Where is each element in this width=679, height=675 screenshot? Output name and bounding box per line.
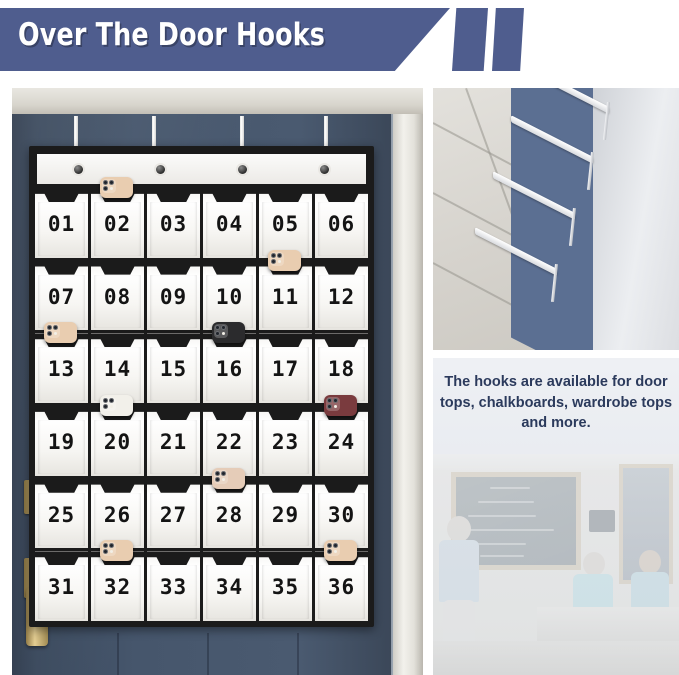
door-groove-2: [207, 633, 209, 675]
camera-flash-icon: [334, 405, 337, 408]
pocket-top-binding: [315, 188, 368, 202]
pocket-top-binding: [91, 479, 144, 493]
head: [583, 552, 605, 576]
pocket-top-binding: [91, 333, 144, 347]
wall-trim: [12, 88, 423, 116]
pocket-number: 05: [259, 212, 312, 236]
camera-lens-icon: [333, 543, 338, 548]
head: [639, 550, 661, 574]
pocket-slot[interactable]: 23: [259, 406, 315, 476]
camera-flash-icon: [222, 332, 225, 335]
pocket-number: 11: [259, 284, 312, 308]
camera-module: [46, 324, 60, 338]
camera-module: [326, 397, 340, 411]
camera-lens-icon: [103, 543, 108, 548]
scene-caption: The hooks are available for door tops, c…: [439, 372, 673, 434]
pocket-number: 08: [91, 284, 144, 308]
pocket-number: 30: [315, 502, 368, 526]
classroom-illustration: [433, 454, 679, 675]
pocket-top-binding: [203, 551, 256, 565]
pocket-number: 28: [203, 502, 256, 526]
pocket-top-binding: [259, 479, 312, 493]
camera-lens-icon: [271, 259, 276, 264]
pocket-slot[interactable]: 09: [147, 261, 203, 331]
pocket-top-binding: [147, 479, 200, 493]
product-image-page: Over The Door Hooks 01020304050607080910…: [0, 0, 679, 675]
camera-module: [214, 324, 228, 338]
pocket-top-binding: [147, 551, 200, 565]
pocket-row: 070809101112: [35, 261, 368, 334]
pocket-slot[interactable]: 07: [35, 261, 91, 331]
pocket-slot[interactable]: 32: [91, 551, 147, 621]
pocket-number: 35: [259, 575, 312, 599]
hook-detail-photo: [433, 88, 679, 350]
pocket-number: 29: [259, 502, 312, 526]
pocket-slot[interactable]: 36: [315, 551, 368, 621]
pocket-number: 32: [91, 575, 144, 599]
camera-lens-icon: [47, 331, 52, 336]
pocket-slot[interactable]: 10: [203, 261, 259, 331]
camera-lens-icon: [277, 253, 282, 258]
phone-in-pocket: [100, 395, 133, 416]
header-divider: [0, 77, 679, 79]
camera-lens-icon: [215, 331, 220, 336]
camera-module: [214, 470, 228, 484]
pocket-top-binding: [315, 261, 368, 275]
camera-module: [102, 542, 116, 556]
camera-lens-icon: [327, 549, 332, 554]
pocket-row: 010203040506: [35, 188, 368, 261]
pocket-slot[interactable]: 26: [91, 479, 147, 549]
hanger-strap: [324, 116, 328, 148]
phone-in-pocket: [100, 540, 133, 561]
camera-lens-icon: [103, 398, 108, 403]
camera-flash-icon: [334, 550, 337, 553]
camera-lens-icon: [103, 404, 108, 409]
pocket-number: 19: [35, 430, 88, 454]
camera-flash-icon: [110, 550, 113, 553]
pocket-number: 02: [91, 212, 144, 236]
camera-flash-icon: [110, 187, 113, 190]
pocket-slot[interactable]: 30: [315, 479, 368, 549]
numbered-pocket-chart: 0102030405060708091011121314151617181920…: [29, 146, 374, 627]
camera-lens-icon: [271, 253, 276, 258]
camera-flash-icon: [222, 478, 225, 481]
phone-in-pocket: [324, 395, 357, 416]
hanger-strap: [74, 116, 78, 148]
pocket-number: 21: [147, 430, 200, 454]
camera-lens-icon: [53, 325, 58, 330]
camera-lens-icon: [215, 325, 220, 330]
pocket-number: 22: [203, 430, 256, 454]
banner-stripe-2: [492, 8, 524, 71]
door-groove-3: [297, 633, 299, 675]
torso: [439, 540, 479, 602]
pocket-number: 16: [203, 357, 256, 381]
pocket-top-binding: [147, 188, 200, 202]
door-frame-right: [393, 114, 423, 675]
pocket-slot[interactable]: 08: [91, 261, 147, 331]
pocket-top-binding: [259, 406, 312, 420]
banner-stripe-1: [452, 8, 488, 71]
camera-lens-icon: [215, 471, 220, 476]
pocket-number: 17: [259, 357, 312, 381]
camera-lens-icon: [215, 477, 220, 482]
camera-lens-icon: [47, 325, 52, 330]
pocket-number: 34: [203, 575, 256, 599]
chalk-mark: [480, 555, 524, 557]
pocket-top-binding: [147, 406, 200, 420]
pocket-slot[interactable]: 21: [147, 406, 203, 476]
pocket-slot[interactable]: 31: [35, 551, 91, 621]
pocket-slot[interactable]: 25: [35, 479, 91, 549]
chalk-mark: [490, 487, 530, 489]
pocket-top-binding: [35, 188, 88, 202]
pocket-number: 25: [35, 502, 88, 526]
pocket-number: 23: [259, 430, 312, 454]
camera-lens-icon: [109, 180, 114, 185]
pocket-number: 09: [147, 284, 200, 308]
pocket-number: 12: [315, 284, 368, 308]
header-banner: Over The Door Hooks: [0, 0, 679, 86]
pocket-slot[interactable]: 05: [259, 188, 315, 258]
camera-lens-icon: [103, 186, 108, 191]
chart-top-binding: [35, 152, 368, 186]
pocket-top-binding: [35, 406, 88, 420]
pocket-slot[interactable]: 35: [259, 551, 315, 621]
camera-module: [102, 179, 116, 193]
door-groove-1: [117, 633, 119, 675]
camera-flash-icon: [110, 405, 113, 408]
pocket-top-binding: [147, 261, 200, 275]
pocket-slot[interactable]: 01: [35, 188, 91, 258]
camera-lens-icon: [103, 549, 108, 554]
pocket-number: 36: [315, 575, 368, 599]
classroom-desk: [537, 607, 679, 641]
classroom-front-desk: [433, 641, 679, 675]
pocket-number: 20: [91, 430, 144, 454]
pocket-top-binding: [35, 261, 88, 275]
pocket-number: 04: [203, 212, 256, 236]
pocket-slot[interactable]: 20: [91, 406, 147, 476]
pocket-slot[interactable]: 12: [315, 261, 368, 331]
pocket-top-binding: [203, 261, 256, 275]
camera-flash-icon: [278, 260, 281, 263]
pocket-number: 03: [147, 212, 200, 236]
wall-monitor: [589, 510, 615, 532]
head: [447, 516, 471, 542]
pocket-top-binding: [35, 551, 88, 565]
pocket-top-binding: [315, 333, 368, 347]
pocket-slot[interactable]: 03: [147, 188, 203, 258]
pocket-number: 14: [91, 357, 144, 381]
chalk-mark: [478, 501, 534, 503]
pocket-number: 27: [147, 502, 200, 526]
pocket-number: 10: [203, 284, 256, 308]
pocket-number: 24: [315, 430, 368, 454]
phone-in-pocket: [212, 322, 245, 343]
pocket-top-binding: [203, 188, 256, 202]
pocket-number: 15: [147, 357, 200, 381]
camera-module: [102, 397, 116, 411]
pocket-slot[interactable]: 16: [203, 333, 259, 403]
pocket-slot[interactable]: 29: [259, 479, 315, 549]
phone-in-pocket: [268, 250, 301, 271]
camera-lens-icon: [327, 543, 332, 548]
camera-lens-icon: [221, 325, 226, 330]
pocket-number: 31: [35, 575, 88, 599]
pocket-slot[interactable]: 14: [91, 333, 147, 403]
grommet-icon: [156, 165, 165, 174]
pocket-slot[interactable]: 15: [147, 333, 203, 403]
phone-in-pocket: [100, 177, 133, 198]
hanger-strap: [240, 116, 244, 148]
page-title: Over The Door Hooks: [18, 17, 325, 53]
pocket-row: 131415161718: [35, 333, 368, 406]
pocket-slot[interactable]: 02: [91, 188, 147, 258]
pocket-top-binding: [147, 333, 200, 347]
chalk-mark: [474, 543, 526, 545]
pocket-row: 252627282930: [35, 479, 368, 552]
grommet-icon: [238, 165, 247, 174]
pocket-slot[interactable]: 24: [315, 406, 368, 476]
pocket-row: 192021222324: [35, 406, 368, 479]
pocket-slot[interactable]: 27: [147, 479, 203, 549]
pocket-slot[interactable]: 04: [203, 188, 259, 258]
grommet-icon: [320, 165, 329, 174]
camera-lens-icon: [109, 543, 114, 548]
main-product-photo: 0102030405060708091011121314151617181920…: [12, 88, 423, 675]
pocket-number: 26: [91, 502, 144, 526]
pocket-slot[interactable]: 34: [203, 551, 259, 621]
camera-lens-icon: [221, 471, 226, 476]
camera-module: [326, 542, 340, 556]
pocket-top-binding: [259, 188, 312, 202]
pocket-number: 07: [35, 284, 88, 308]
pocket-slot[interactable]: 18: [315, 333, 368, 403]
pocket-slot[interactable]: 11: [259, 261, 315, 331]
camera-lens-icon: [109, 398, 114, 403]
pocket-number: 33: [147, 575, 200, 599]
pocket-slot[interactable]: 13: [35, 333, 91, 403]
camera-flash-icon: [54, 332, 57, 335]
pocket-slot[interactable]: 28: [203, 479, 259, 549]
pocket-top-binding: [91, 261, 144, 275]
phone-in-pocket: [212, 468, 245, 489]
camera-module: [270, 252, 284, 266]
camera-lens-icon: [327, 404, 332, 409]
grommet-icon: [74, 165, 83, 174]
camera-lens-icon: [327, 398, 332, 403]
pocket-top-binding: [259, 333, 312, 347]
pocket-number: 01: [35, 212, 88, 236]
pocket-slot[interactable]: 06: [315, 188, 368, 258]
camera-lens-icon: [103, 180, 108, 185]
pocket-slot[interactable]: 19: [35, 406, 91, 476]
pocket-slot[interactable]: 17: [259, 333, 315, 403]
pocket-number: 13: [35, 357, 88, 381]
usage-scene-photo: The hooks are available for door tops, c…: [433, 358, 679, 675]
pocket-number: 06: [315, 212, 368, 236]
pocket-top-binding: [259, 551, 312, 565]
pocket-number: 18: [315, 357, 368, 381]
pocket-slot[interactable]: 33: [147, 551, 203, 621]
pocket-top-binding: [315, 479, 368, 493]
pocket-grid: 0102030405060708091011121314151617181920…: [35, 188, 368, 621]
phone-in-pocket: [324, 540, 357, 561]
pocket-row: 313233343536: [35, 551, 368, 621]
hanger-strap: [152, 116, 156, 148]
pocket-slot[interactable]: 22: [203, 406, 259, 476]
pocket-top-binding: [35, 479, 88, 493]
pocket-top-binding: [203, 406, 256, 420]
camera-lens-icon: [333, 398, 338, 403]
phone-in-pocket: [44, 322, 77, 343]
